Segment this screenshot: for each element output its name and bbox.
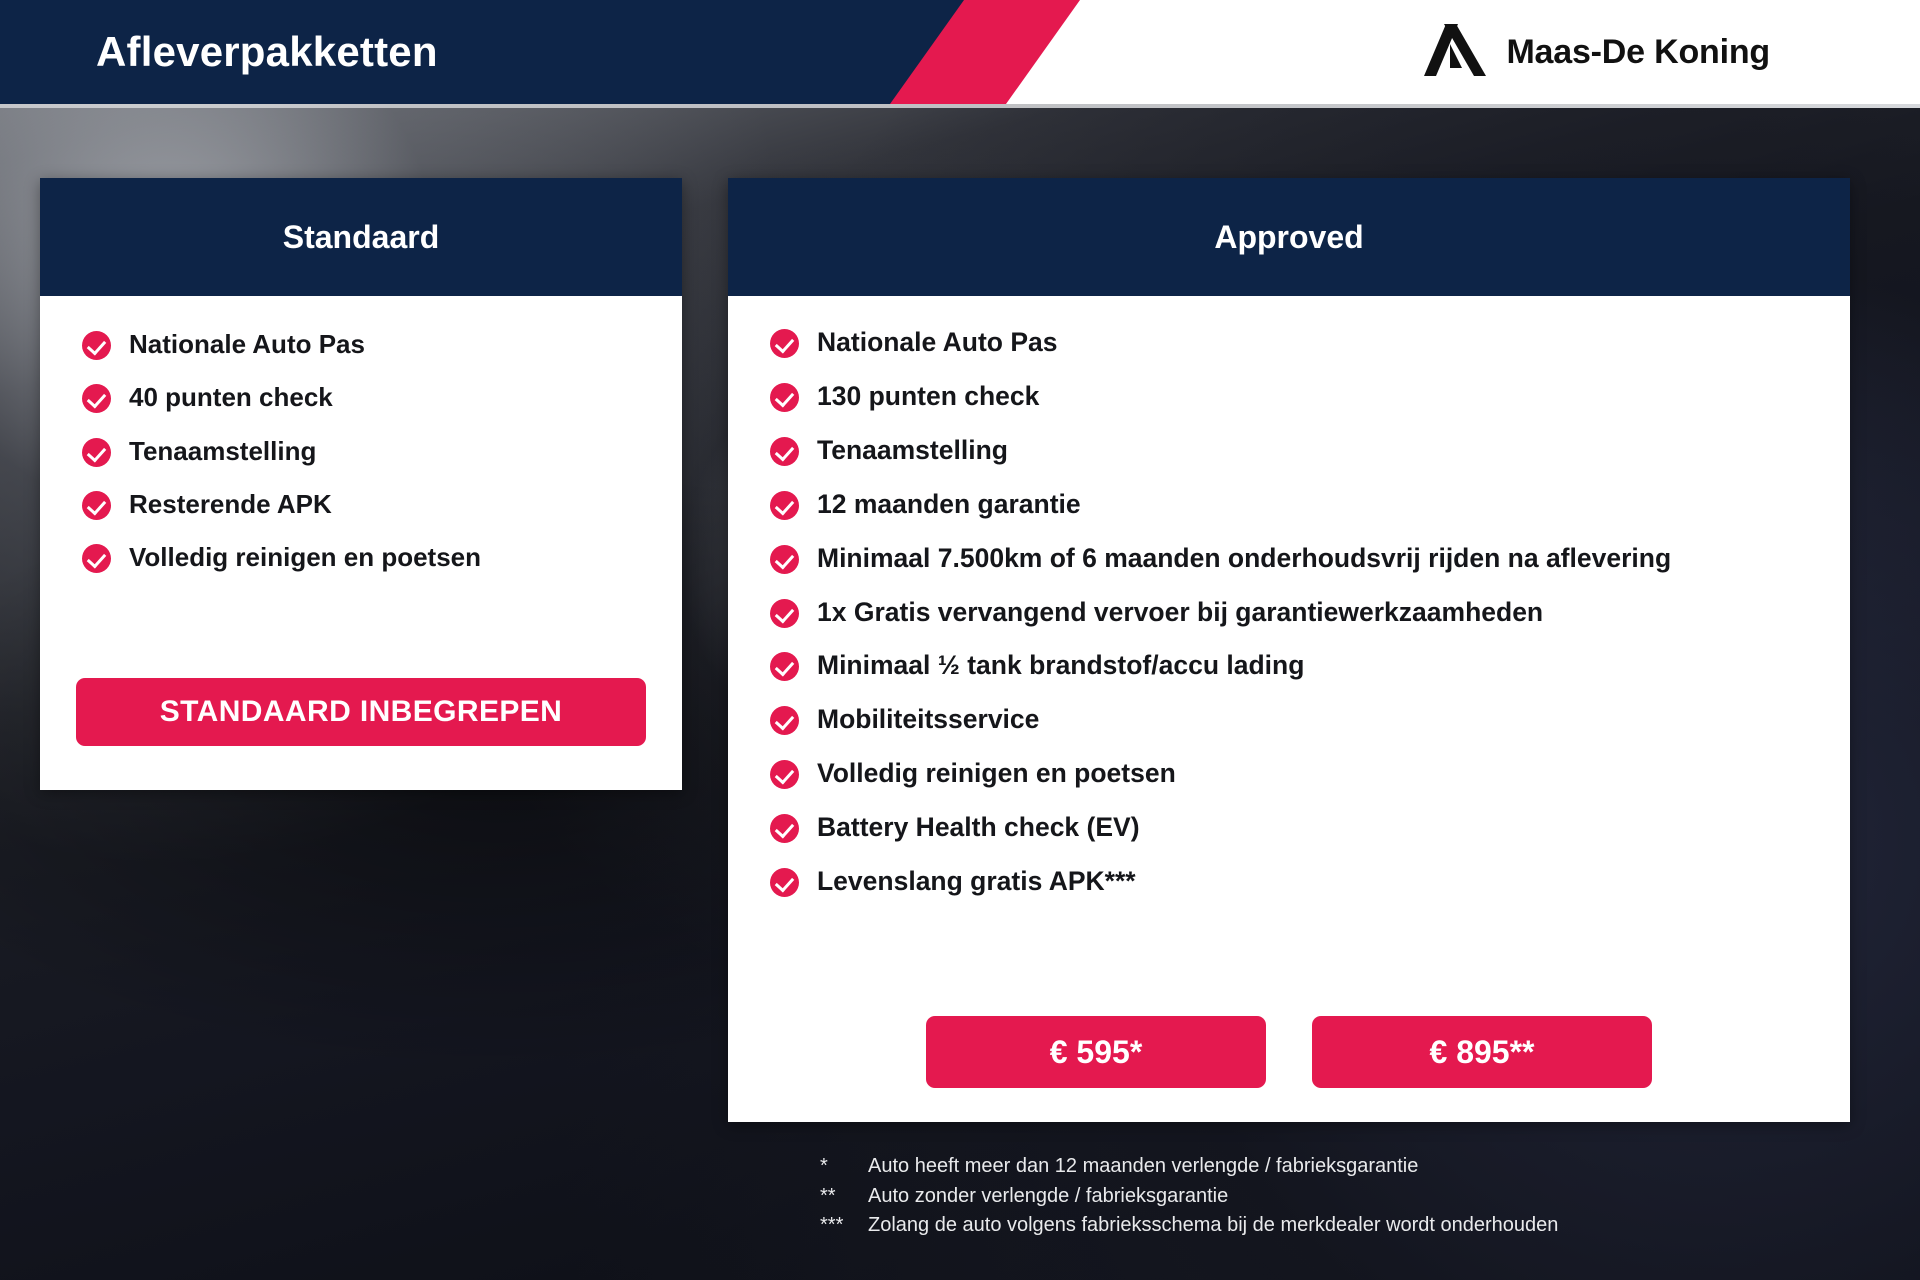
approved-feature-label: Tenaamstelling	[817, 434, 1008, 468]
standaard-feature-label: Nationale Auto Pas	[129, 328, 365, 361]
footnote-text: Auto zonder verlengde / fabrieksgarantie	[868, 1182, 1228, 1212]
standaard-feature-item: Tenaamstelling	[82, 435, 682, 468]
approved-feature-label: Volledig reinigen en poetsen	[817, 757, 1176, 791]
standaard-feature-item: Volledig reinigen en poetsen	[82, 541, 682, 574]
header-divider	[0, 104, 1920, 108]
page-header: Afleverpakketten Maas-De Koning	[0, 0, 1920, 104]
check-circle-icon	[770, 545, 799, 574]
approved-feature-label: 130 punten check	[817, 380, 1039, 414]
check-circle-icon	[770, 760, 799, 789]
check-circle-icon	[82, 331, 111, 360]
approved-package-card: Approved Nationale Auto Pas130 punten ch…	[728, 178, 1850, 1122]
footnote-marker: *	[820, 1152, 868, 1182]
brand-lockup: Maas-De Koning	[1424, 0, 1770, 104]
approved-feature-label: Nationale Auto Pas	[817, 326, 1058, 360]
standaard-feature-item: Nationale Auto Pas	[82, 328, 682, 361]
check-circle-icon	[770, 383, 799, 412]
standaard-feature-item: Resterende APK	[82, 488, 682, 521]
approved-feature-item: Battery Health check (EV)	[770, 811, 1850, 845]
approved-card-heading: Approved	[728, 178, 1850, 296]
standaard-included-button[interactable]: STANDAARD INBEGREPEN	[76, 678, 646, 746]
footnote-row: ***Zolang de auto volgens fabrieksschema…	[820, 1211, 1558, 1241]
check-circle-icon	[82, 438, 111, 467]
standaard-package-card: Standaard Nationale Auto Pas40 punten ch…	[40, 178, 682, 790]
page-title: Afleverpakketten	[96, 0, 438, 104]
approved-feature-label: Battery Health check (EV)	[817, 811, 1140, 845]
footnote-text: Zolang de auto volgens fabrieksschema bi…	[868, 1211, 1558, 1241]
approved-feature-list: Nationale Auto Pas130 punten checkTenaam…	[728, 296, 1850, 899]
standaard-card-body: Nationale Auto Pas40 punten checkTenaams…	[40, 296, 682, 574]
check-circle-icon	[770, 437, 799, 466]
footnote-row: ** Auto zonder verlengde / fabrieksgaran…	[820, 1182, 1558, 1212]
approved-feature-label: Levenslang gratis APK***	[817, 865, 1136, 899]
standaard-card-heading: Standaard	[40, 178, 682, 296]
check-circle-icon	[82, 491, 111, 520]
approved-feature-label: 1x Gratis vervangend vervoer bij garanti…	[817, 596, 1543, 630]
approved-feature-item: 12 maanden garantie	[770, 488, 1850, 522]
approved-feature-item: Minimaal ½ tank brandstof/accu lading	[770, 649, 1850, 683]
check-circle-icon	[770, 599, 799, 628]
check-circle-icon	[82, 544, 111, 573]
approved-price-button[interactable]: € 595*	[926, 1016, 1266, 1088]
check-circle-icon	[82, 384, 111, 413]
check-circle-icon	[770, 814, 799, 843]
approved-feature-item: Minimaal 7.500km of 6 maanden onderhouds…	[770, 542, 1850, 576]
standaard-feature-label: 40 punten check	[129, 381, 333, 414]
check-circle-icon	[770, 868, 799, 897]
approved-feature-item: Levenslang gratis APK***	[770, 865, 1850, 899]
approved-feature-label: Minimaal ½ tank brandstof/accu lading	[817, 649, 1304, 683]
angular-m-logo-icon	[1424, 24, 1486, 81]
approved-card-body: Nationale Auto Pas130 punten checkTenaam…	[728, 296, 1850, 899]
approved-feature-label: Mobiliteitsservice	[817, 703, 1039, 737]
check-circle-icon	[770, 706, 799, 735]
check-circle-icon	[770, 491, 799, 520]
footnotes: *Auto heeft meer dan 12 maanden verlengd…	[820, 1152, 1558, 1241]
approved-price-button[interactable]: € 895**	[1312, 1016, 1652, 1088]
check-circle-icon	[770, 329, 799, 358]
footnote-row: *Auto heeft meer dan 12 maanden verlengd…	[820, 1152, 1558, 1182]
standaard-feature-label: Resterende APK	[129, 488, 332, 521]
footnote-marker: **	[820, 1182, 868, 1212]
brand-name: Maas-De Koning	[1506, 33, 1770, 72]
approved-feature-item: 130 punten check	[770, 380, 1850, 414]
standaard-feature-label: Tenaamstelling	[129, 435, 316, 468]
check-circle-icon	[770, 652, 799, 681]
approved-feature-item: Nationale Auto Pas	[770, 326, 1850, 360]
standaard-feature-list: Nationale Auto Pas40 punten checkTenaams…	[40, 296, 682, 574]
approved-feature-label: 12 maanden garantie	[817, 488, 1081, 522]
approved-feature-label: Minimaal 7.500km of 6 maanden onderhouds…	[817, 542, 1671, 576]
approved-feature-item: Tenaamstelling	[770, 434, 1850, 468]
approved-feature-item: Volledig reinigen en poetsen	[770, 757, 1850, 791]
standaard-feature-label: Volledig reinigen en poetsen	[129, 541, 481, 574]
approved-feature-item: Mobiliteitsservice	[770, 703, 1850, 737]
approved-feature-item: 1x Gratis vervangend vervoer bij garanti…	[770, 596, 1850, 630]
approved-price-row: € 595*€ 895**	[728, 1016, 1850, 1088]
standaard-feature-item: 40 punten check	[82, 381, 682, 414]
footnote-marker: ***	[820, 1211, 868, 1241]
footnote-text: Auto heeft meer dan 12 maanden verlengde…	[868, 1152, 1418, 1182]
